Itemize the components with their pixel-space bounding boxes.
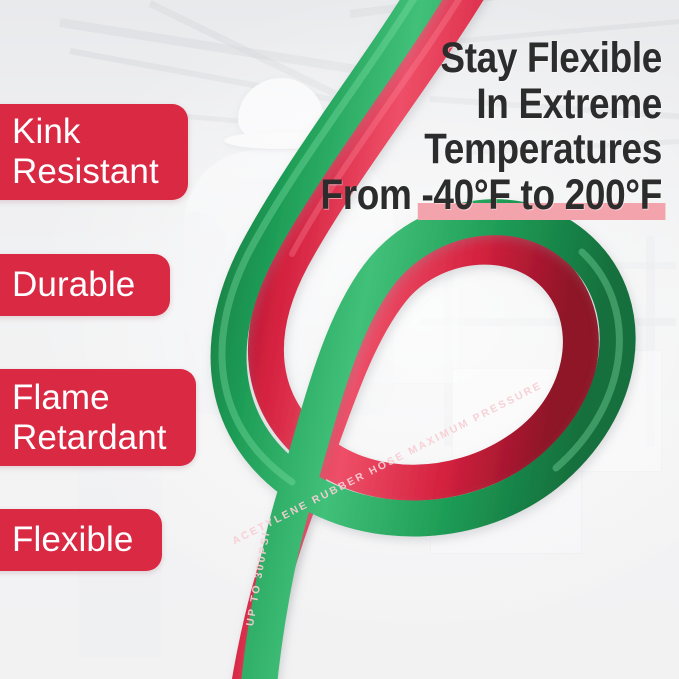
feature-badge-label: Flame Retardant	[12, 378, 167, 458]
headline-line-4: From -40°F to 200°F	[301, 173, 662, 219]
headline-line-3: Temperatures	[301, 127, 662, 173]
feature-badge-durable[interactable]: Durable	[0, 254, 170, 316]
headline-line-4-prefix: From	[320, 171, 421, 219]
feature-badge-label: Kink Resistant	[12, 112, 159, 192]
product-feature-graphic: ACETYLENE RUBBER HOSE MAXIMUM PRESSURE U…	[0, 0, 679, 679]
feature-badge-label: Durable	[12, 265, 135, 305]
feature-badge-flame-retardant[interactable]: Flame Retardant	[0, 369, 196, 466]
headline: Stay Flexible In Extreme Temperatures Fr…	[301, 36, 662, 218]
headline-line-2: In Extreme	[301, 82, 662, 128]
headline-line-1: Stay Flexible	[301, 36, 662, 82]
headline-temperature-range: -40°F to 200°F	[421, 173, 662, 219]
feature-badge-kink-resistant[interactable]: Kink Resistant	[0, 104, 188, 200]
feature-badge-flexible[interactable]: Flexible	[0, 509, 162, 571]
feature-badge-label: Flexible	[12, 520, 133, 560]
